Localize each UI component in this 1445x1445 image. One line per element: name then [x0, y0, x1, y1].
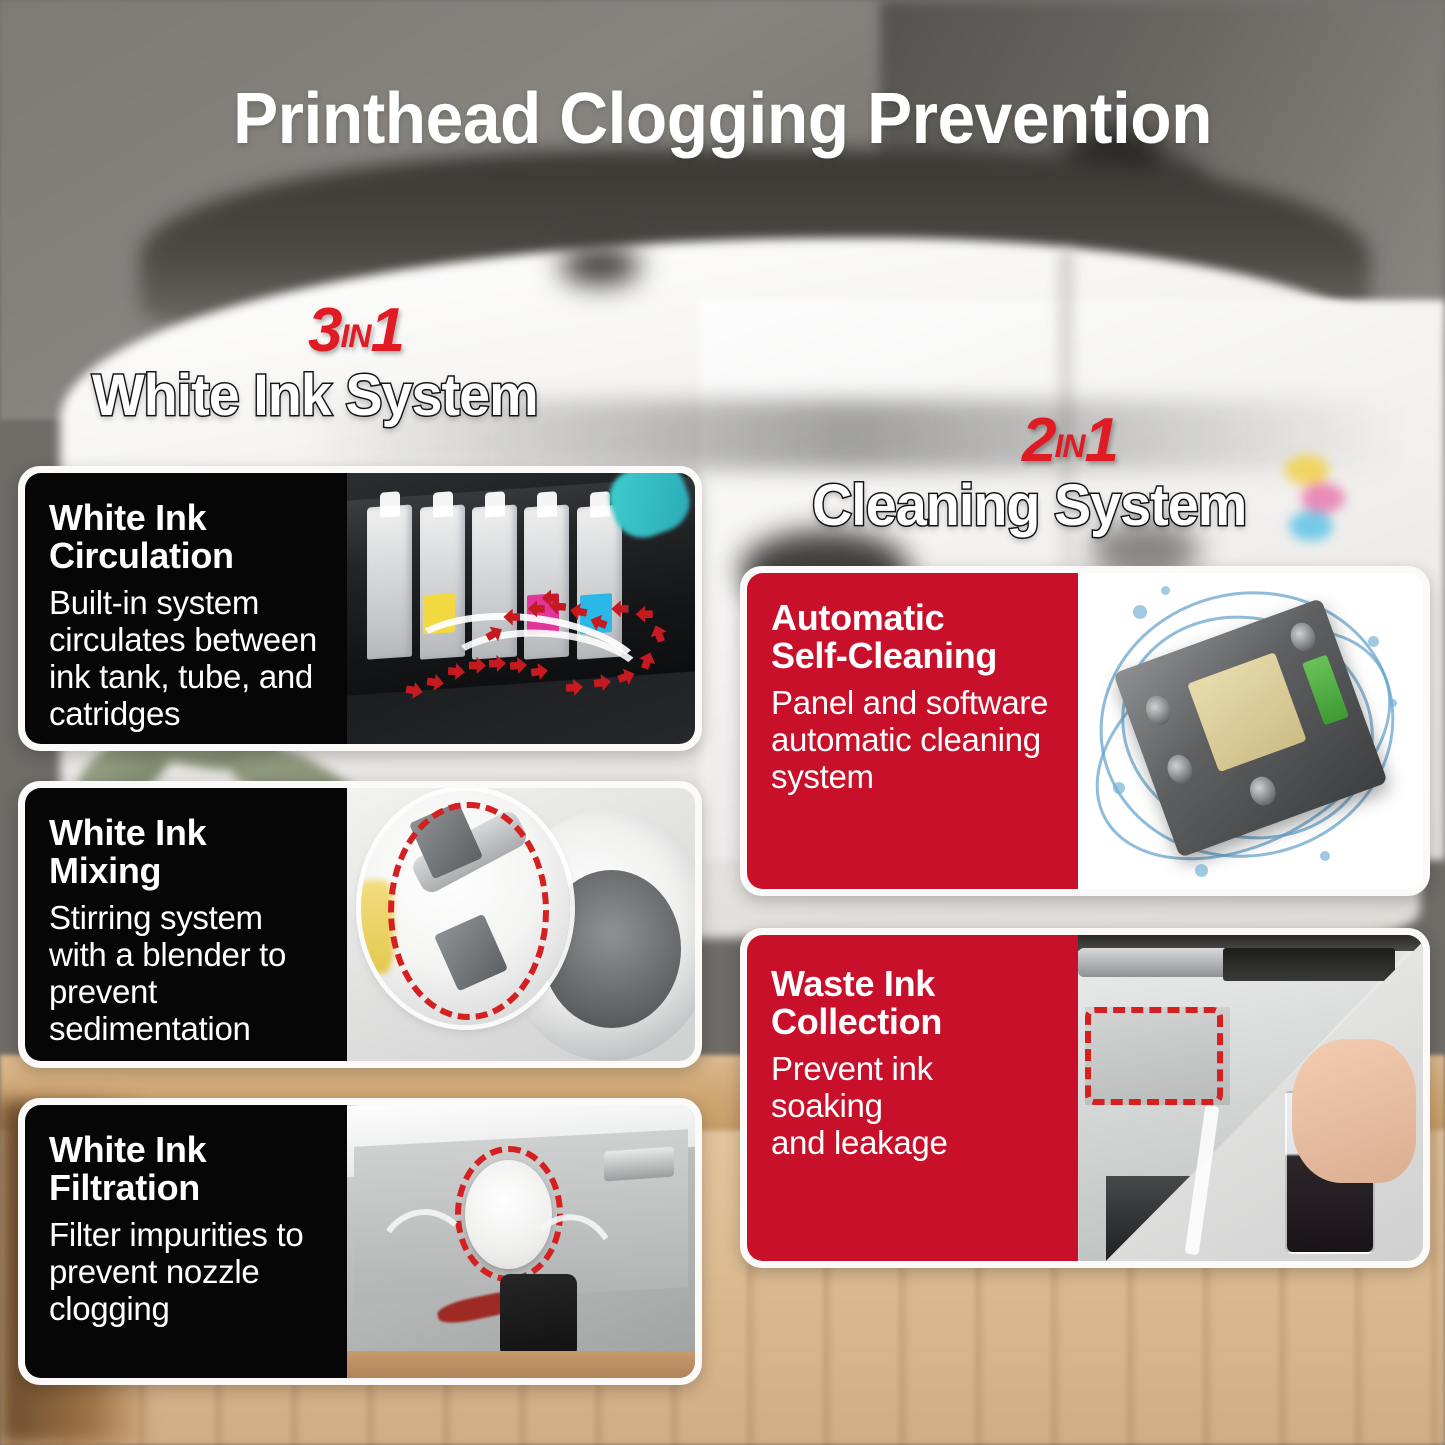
card-title: Waste Ink Collection — [771, 965, 1060, 1041]
section-heading-white-ink-system: 3IN1 White Ink System — [92, 300, 556, 429]
highlight-dashed-rectangle — [1085, 1007, 1223, 1105]
card-title: White Ink Filtration — [49, 1131, 329, 1207]
card-description: Prevent ink soaking and leakage — [771, 1051, 1060, 1162]
card-title: Automatic Self-Cleaning — [771, 599, 1060, 675]
feature-card-white-ink-circulation: White Ink Circulation Built-in system ci… — [18, 466, 702, 751]
card-title: White Ink Mixing — [49, 814, 329, 890]
section-title-white-ink-system: White Ink System — [92, 362, 538, 429]
section-heading-cleaning-system: 2IN1 Cleaning System — [812, 410, 1264, 539]
card-description: Stirring system with a blender to preven… — [49, 900, 329, 1048]
badge-one: 1 — [1084, 406, 1116, 475]
feature-card-waste-ink-collection: Waste Ink Collection Prevent ink soaking… — [740, 928, 1430, 1268]
card-description: Built-in system circulates between ink t… — [49, 585, 329, 733]
card-title: White Ink Circulation — [49, 499, 329, 575]
badge-one: 1 — [370, 296, 402, 365]
card-photo-ink-mixing — [347, 788, 695, 1061]
card-text-panel: Automatic Self-Cleaning Panel and softwa… — [747, 573, 1078, 889]
feature-card-automatic-self-cleaning: Automatic Self-Cleaning Panel and softwa… — [740, 566, 1430, 896]
card-text-panel: White Ink Filtration Filter impurities t… — [25, 1105, 347, 1378]
badge-3-in-1: 3IN1 — [308, 300, 556, 362]
highlight-dashed-circle — [388, 802, 548, 1020]
feature-card-white-ink-mixing: White Ink Mixing Stirring system with a … — [18, 781, 702, 1068]
background-dark-shape — [560, 245, 640, 285]
page-title: Printhead Clogging Prevention — [43, 78, 1401, 160]
card-description: Panel and software automatic cleaning sy… — [771, 685, 1060, 796]
card-text-panel: Waste Ink Collection Prevent ink soaking… — [747, 935, 1078, 1261]
card-photo-waste-ink — [1078, 935, 1423, 1261]
badge-number: 3 — [308, 296, 340, 365]
background-cmyk-inks — [1285, 455, 1405, 550]
card-text-panel: White Ink Mixing Stirring system with a … — [25, 788, 347, 1061]
card-photo-ink-circulation — [347, 473, 695, 744]
badge-2-in-1: 2IN1 — [1022, 410, 1264, 472]
card-photo-ink-filtration — [347, 1105, 695, 1378]
card-photo-self-cleaning — [1078, 573, 1423, 889]
badge-number: 2 — [1022, 406, 1054, 475]
feature-card-white-ink-filtration: White Ink Filtration Filter impurities t… — [18, 1098, 702, 1385]
card-description: Filter impurities to prevent nozzle clog… — [49, 1217, 329, 1328]
badge-in-label: IN — [340, 318, 370, 354]
badge-in-label: IN — [1054, 428, 1084, 464]
section-title-cleaning-system: Cleaning System — [812, 472, 1246, 539]
card-text-panel: White Ink Circulation Built-in system ci… — [25, 473, 347, 744]
